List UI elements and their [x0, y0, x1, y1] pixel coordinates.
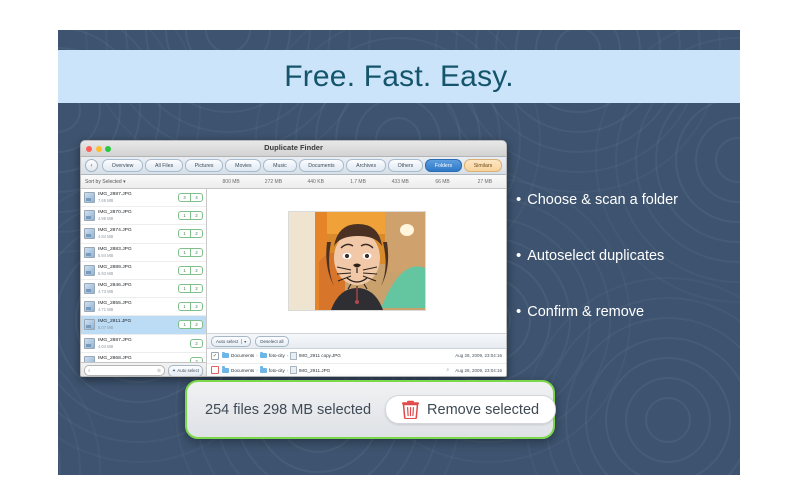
list-item: • Choose & scan a folder — [516, 192, 738, 208]
deselect-all-button[interactable]: Deselect all — [255, 336, 288, 347]
duplicate-count-badges: 1 2 — [178, 320, 203, 329]
bullet-dot-icon: • — [516, 248, 521, 263]
back-button[interactable]: ‹ — [85, 159, 98, 172]
file-thumbnail-icon — [84, 319, 95, 330]
file-size: 4.73 MB — [98, 289, 178, 294]
pane-auto-select-button[interactable]: Auto select ▾ — [211, 336, 251, 347]
reveal-in-finder-icon[interactable]: ⌕ — [446, 367, 449, 373]
duplicate-date: Aug 28, 2009, 23:04:16 — [455, 353, 502, 358]
badge-selected: 1 — [178, 302, 191, 311]
tab-all-files[interactable]: All Files — [145, 159, 183, 172]
tab-similars[interactable]: Similars — [464, 159, 502, 172]
duplicate-count-badges: 1 2 — [178, 211, 203, 220]
size-label: 440 KB — [295, 179, 337, 185]
duplicate-count-badges: 1 2 — [178, 229, 203, 238]
breadcrumb-segment[interactable]: foto-city — [269, 368, 285, 373]
file-meta: IMG_2887.JPG 7.65 MB — [98, 192, 178, 203]
file-size: 5.07 MB — [98, 325, 178, 330]
badge-total: 2 — [191, 211, 203, 220]
file-meta: IMG_2868.JPG 4.09 MB — [98, 356, 190, 362]
folder-icon — [222, 353, 229, 358]
tab-others[interactable]: Others — [388, 159, 423, 172]
tab-documents[interactable]: Documents — [299, 159, 345, 172]
badge-total: 2 — [191, 320, 203, 329]
document-icon — [290, 352, 297, 360]
duplicate-date: Aug 28, 2009, 23:04:16 — [455, 368, 502, 373]
badge-total: 2 — [191, 284, 203, 293]
size-label: 433 MB — [379, 179, 421, 185]
toolbar: ‹ Overview All Files Pictures Movies Mus… — [81, 157, 506, 175]
window-title: Duplicate Finder — [81, 143, 506, 152]
duplicate-count-badges: 1 2 — [178, 302, 203, 311]
file-meta: IMG_2889.JPG 5.93 MB — [98, 265, 178, 276]
table-row[interactable]: Documents › foto-city › IMG_2911.JPG ⌕ A… — [207, 364, 506, 378]
file-meta: IMG_2870.JPG 4.95 MB — [98, 210, 178, 221]
photo-content-icon — [289, 212, 425, 310]
tab-folders[interactable]: Folders — [425, 159, 462, 172]
document-icon — [290, 366, 297, 374]
sort-by-selector[interactable]: Sort by Selected ▾ — [81, 179, 210, 185]
table-row[interactable]: IMG_2870.JPG 4.95 MB 1 2 — [81, 207, 206, 225]
badge-selected: 1 — [178, 211, 191, 220]
file-size: 5.93 MB — [98, 271, 178, 276]
badge-selected: 3 — [178, 193, 191, 202]
bullet-text: Autoselect duplicates — [527, 248, 664, 264]
folder-icon — [222, 368, 229, 373]
file-meta: IMG_2846.JPG 4.73 MB — [98, 283, 178, 294]
duplicate-finder-window: Duplicate Finder ‹ Overview All Files Pi… — [80, 140, 507, 377]
file-size: 4.95 MB — [98, 216, 178, 221]
deselect-all-label: Deselect all — [260, 339, 283, 344]
file-meta: IMG_2883.JPG 5.84 MB — [98, 247, 178, 258]
bullet-dot-icon: • — [516, 304, 521, 319]
duplicate-count-badges: 1 2 — [178, 266, 203, 275]
page-title: Free. Fast. Easy. — [284, 60, 514, 94]
file-meta: IMG_2855.JPG 4.71 MB — [98, 301, 178, 312]
folder-icon — [260, 368, 267, 373]
file-thumbnail-icon — [84, 228, 95, 239]
size-label: 800 MB — [210, 179, 252, 185]
badge-selected: 1 — [178, 284, 191, 293]
search-input[interactable]: ⌕ ⊗ — [84, 365, 165, 376]
tab-size-labels: 800 MB 272 MB 440 KB 1.7 MB 433 MB 66 MB… — [210, 179, 506, 185]
file-meta: IMG_2887.JPG 4.04 MB — [98, 338, 190, 349]
file-meta: IMG_2911.JPG 5.07 MB — [98, 319, 178, 330]
breadcrumb: Documents › foto-city › IMG_2911.JPG — [222, 366, 330, 374]
table-row[interactable]: IMG_2887.JPG 4.04 MB 2 — [81, 335, 206, 353]
table-row[interactable]: IMG_2874.JPG 4.84 MB 1 2 — [81, 225, 206, 243]
file-thumbnail-icon — [84, 356, 95, 362]
list-item: • Autoselect duplicates — [516, 248, 738, 264]
remove-callout: 254 files 298 MB selected Remove selecte… — [185, 380, 555, 439]
duplicate-count-badges: 2 — [190, 339, 203, 348]
auto-select-button[interactable]: ✦ Auto select — [168, 365, 203, 377]
breadcrumb-separator: › — [256, 368, 258, 373]
duplicate-rows: ✓ Documents › foto-city › IMG_2911 copy.… — [207, 349, 506, 377]
file-thumbnail-icon — [84, 283, 95, 294]
badge-total: 2 — [190, 357, 203, 362]
duplicate-count-badges: 1 2 — [178, 284, 203, 293]
breadcrumb-segment[interactable]: Documents — [231, 368, 254, 373]
badge-selected: 1 — [178, 229, 191, 238]
status-badge: 254 files 298 MB selected — [205, 402, 371, 418]
file-thumbnail-icon — [84, 210, 95, 221]
badge-selected: 1 — [178, 320, 191, 329]
badge-selected: 1 — [178, 248, 191, 257]
tab-overview[interactable]: Overview — [102, 159, 143, 172]
duplicate-count-badges: 2 — [190, 357, 203, 362]
file-list-sidebar: IMG_2887.JPG 7.65 MB 3 4 IMG_2870.JPG 4.… — [81, 189, 207, 377]
table-row-selected[interactable]: IMG_2911.JPG 5.07 MB 1 2 — [81, 316, 206, 334]
file-thumbnail-icon — [84, 265, 95, 276]
duplicate-file-name[interactable]: IMG_2911 copy.JPG — [299, 353, 341, 358]
feature-bullet-list: • Choose & scan a folder • Autoselect du… — [516, 192, 738, 360]
duplicate-count-badges: 3 4 — [178, 193, 203, 202]
badge-total: 2 — [191, 229, 203, 238]
size-summary-row: Sort by Selected ▾ 800 MB 272 MB 440 KB … — [81, 175, 506, 189]
badge-total: 2 — [191, 248, 203, 257]
table-row[interactable]: IMG_2846.JPG 4.73 MB 1 2 — [81, 280, 206, 298]
badge-total: 2 — [190, 339, 203, 348]
bullet-text: Choose & scan a folder — [527, 192, 678, 208]
file-size: 4.84 MB — [98, 234, 178, 239]
duplicate-count-badges: 1 2 — [178, 248, 203, 257]
breadcrumb-separator: › — [256, 353, 258, 358]
table-row[interactable]: IMG_2868.JPG 4.09 MB 2 — [81, 353, 206, 362]
clear-icon[interactable]: ⊗ — [157, 368, 161, 374]
breadcrumb-separator: › — [287, 353, 289, 358]
table-row[interactable]: ✓ Documents › foto-city › IMG_2911 copy.… — [207, 349, 506, 364]
folder-icon — [260, 353, 267, 358]
trash-icon — [402, 400, 419, 419]
file-size: 5.84 MB — [98, 253, 178, 258]
detail-pane: Auto select ▾ Deselect all ✓ D — [207, 189, 506, 377]
preview-photo — [288, 211, 426, 311]
image-preview — [207, 189, 506, 334]
duplicate-file-name[interactable]: IMG_2911.JPG — [299, 368, 330, 373]
table-row[interactable]: IMG_2889.JPG 5.93 MB 1 2 — [81, 262, 206, 280]
table-row[interactable]: IMG_2855.JPG 4.71 MB 1 2 — [81, 298, 206, 316]
pane-auto-select-label: Auto select — [216, 339, 238, 344]
tab-archives[interactable]: Archives — [346, 159, 386, 172]
table-row[interactable]: IMG_2883.JPG 5.84 MB 1 2 — [81, 244, 206, 262]
tab-pictures[interactable]: Pictures — [185, 159, 223, 172]
sparkle-icon: ✦ — [172, 368, 176, 374]
breadcrumb-segment[interactable]: foto-city — [269, 353, 285, 358]
bullet-dot-icon: • — [516, 192, 521, 207]
table-row[interactable]: IMG_2887.JPG 7.65 MB 3 4 — [81, 189, 206, 207]
screenshot-root: Free. Fast. Easy. • Choose & scan a fold… — [0, 0, 800, 500]
bullet-text: Confirm & remove — [527, 304, 644, 320]
remove-selected-label: Remove selected — [427, 402, 539, 418]
badge-total: 2 — [191, 266, 203, 275]
tab-music[interactable]: Music — [263, 159, 296, 172]
duplicate-actions-bar: Auto select ▾ Deselect all — [207, 334, 506, 349]
tab-movies[interactable]: Movies — [225, 159, 261, 172]
list-item: • Confirm & remove — [516, 304, 738, 320]
size-label: 66 MB — [421, 179, 463, 185]
badge-total: 2 — [191, 302, 203, 311]
sidebar-footer: ⌕ ⊗ ✦ Auto select — [81, 362, 206, 377]
window-titlebar: Duplicate Finder — [81, 141, 506, 157]
breadcrumb: Documents › foto-city › IMG_2911 copy.JP… — [222, 352, 341, 360]
file-thumbnail-icon — [84, 301, 95, 312]
file-thumbnail-icon — [84, 247, 95, 258]
file-rows: IMG_2887.JPG 7.65 MB 3 4 IMG_2870.JPG 4.… — [81, 189, 206, 362]
window-body: IMG_2887.JPG 7.65 MB 3 4 IMG_2870.JPG 4.… — [81, 189, 506, 377]
file-thumbnail-icon — [84, 192, 95, 203]
chevron-left-icon: ‹ — [91, 163, 93, 169]
auto-select-label: Auto select — [177, 368, 199, 373]
row-checkbox[interactable] — [211, 366, 219, 374]
breadcrumb-segment[interactable]: Documents — [231, 353, 254, 358]
file-size: 4.71 MB — [98, 307, 178, 312]
chevron-down-icon[interactable]: ▾ — [241, 339, 246, 344]
file-size: 4.04 MB — [98, 344, 190, 349]
file-size: 7.65 MB — [98, 198, 178, 203]
row-checkbox[interactable]: ✓ — [211, 352, 219, 360]
badge-total: 4 — [191, 193, 203, 202]
headline-band: Free. Fast. Easy. — [58, 50, 740, 103]
badge-selected: 1 — [178, 266, 191, 275]
size-label: 272 MB — [252, 179, 294, 185]
file-thumbnail-icon — [84, 338, 95, 349]
remove-selected-button[interactable]: Remove selected — [385, 395, 556, 424]
size-label: 27 MB — [464, 179, 506, 185]
size-label: 1.7 MB — [337, 179, 379, 185]
file-meta: IMG_2874.JPG 4.84 MB — [98, 228, 178, 239]
checkmark-icon: ✓ — [213, 353, 217, 359]
breadcrumb-separator: › — [287, 368, 289, 373]
search-icon: ⌕ — [88, 368, 91, 373]
category-tabs: Overview All Files Pictures Movies Music… — [102, 159, 502, 172]
